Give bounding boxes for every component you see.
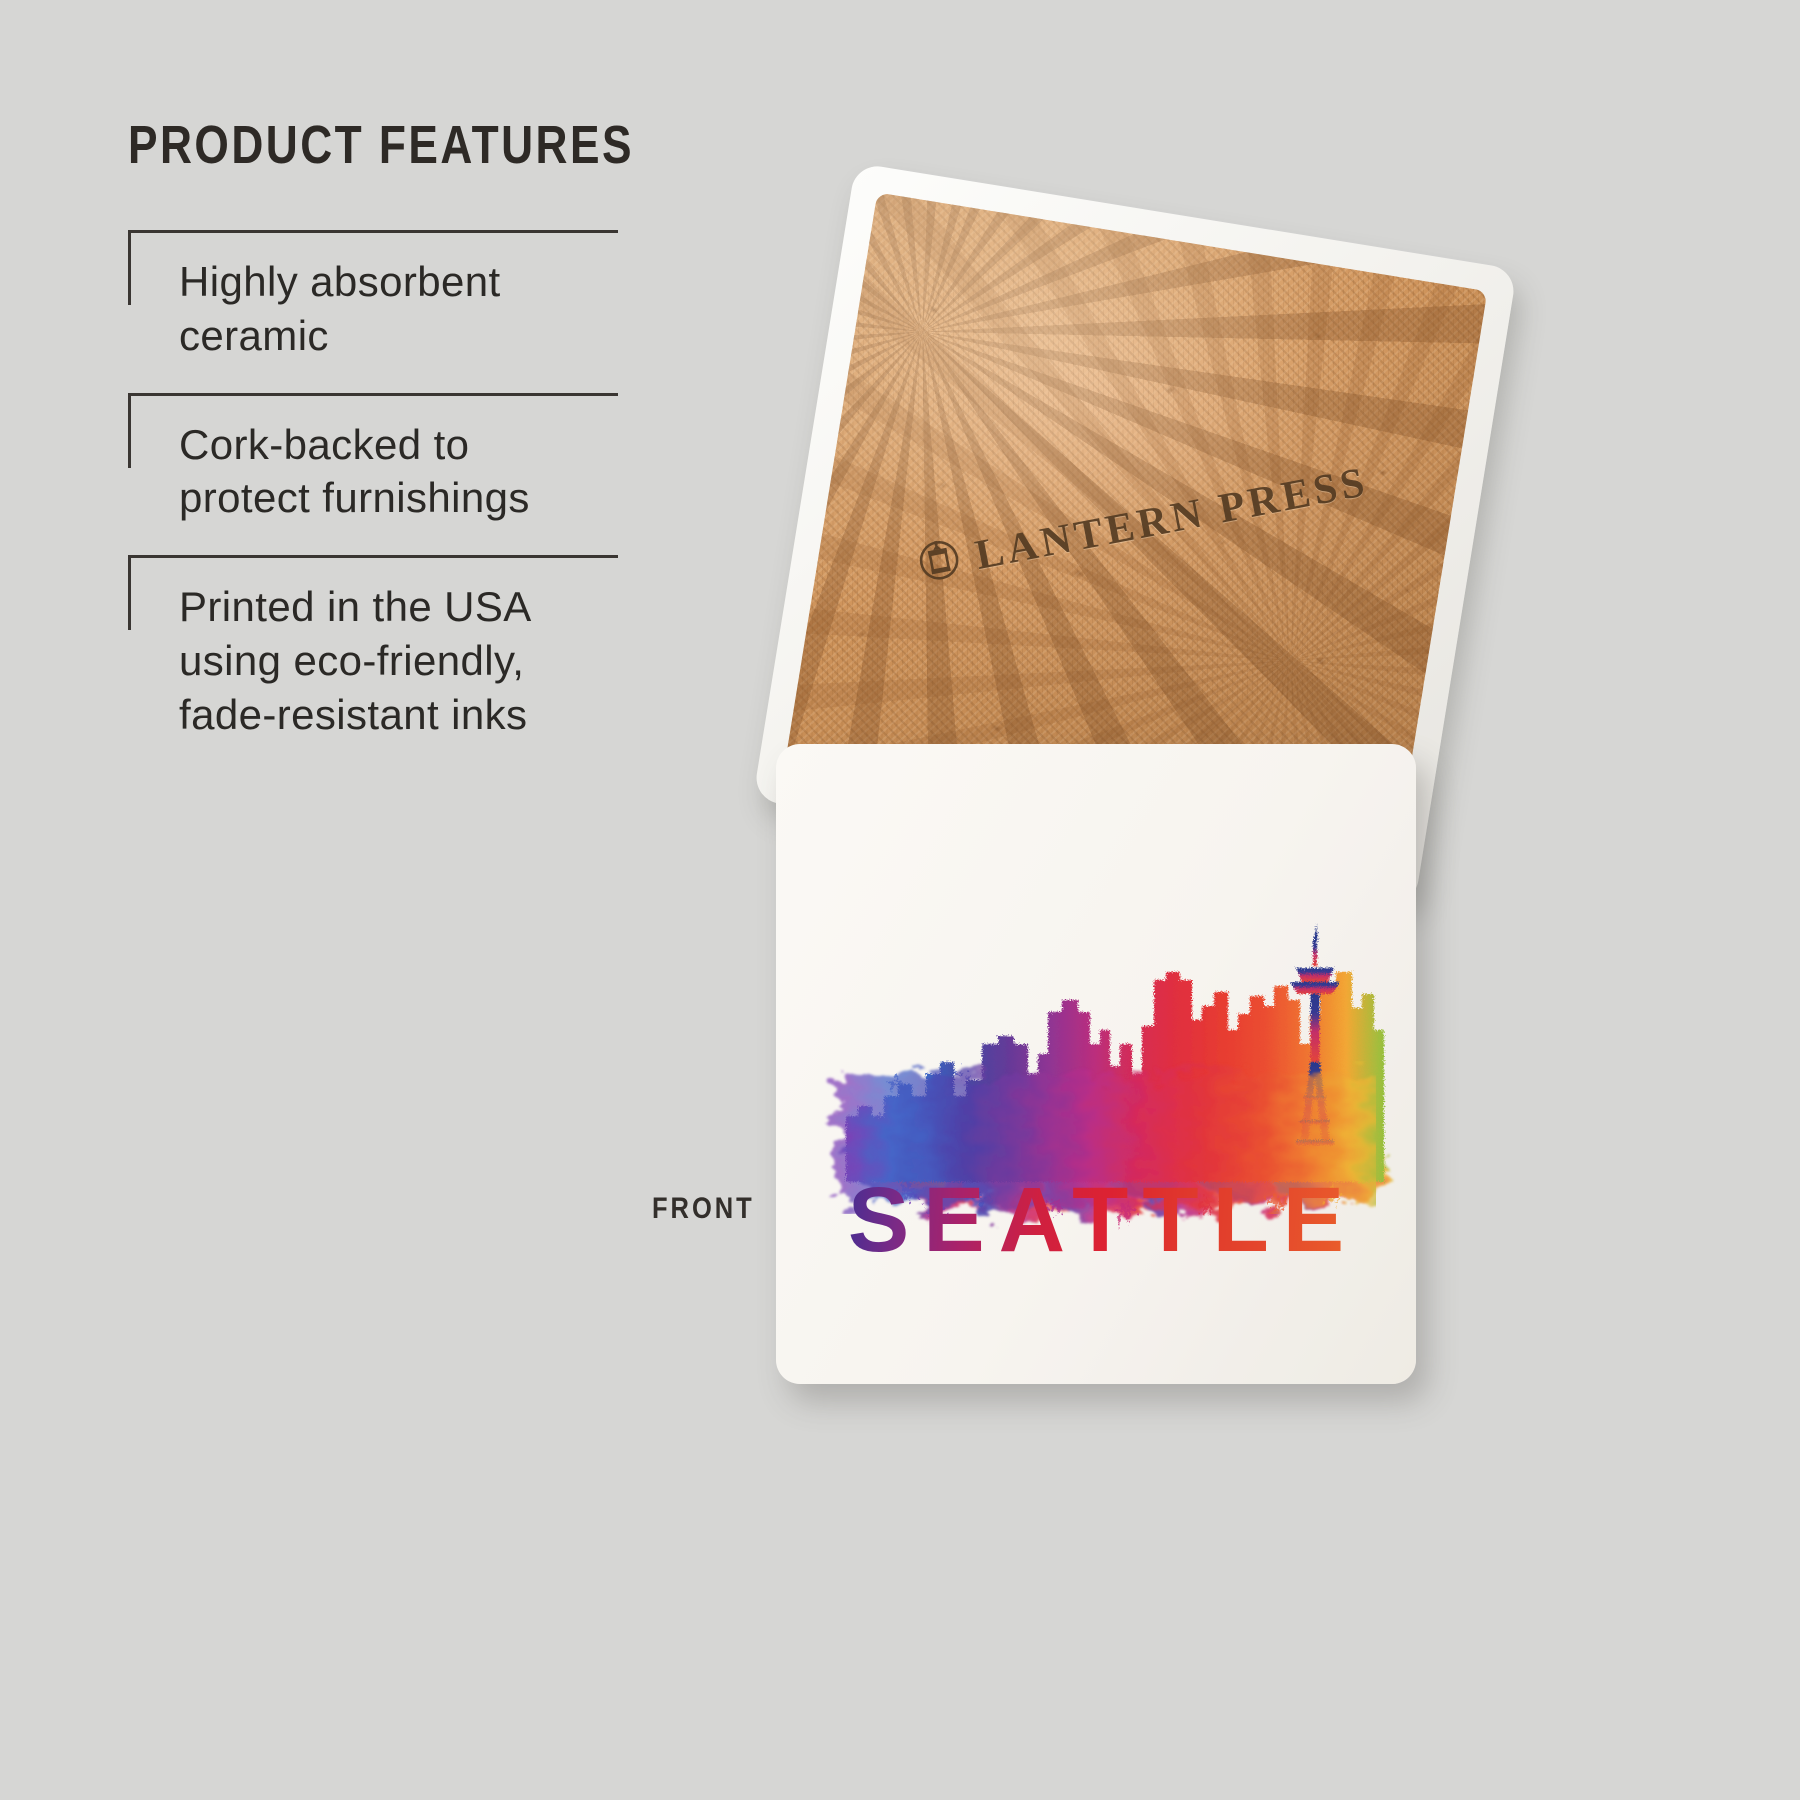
coaster-front: SEATTLE bbox=[776, 744, 1416, 1384]
feature-item-absorbent: Highly absorbent ceramic bbox=[128, 230, 618, 393]
feature-text: Printed in the USA using eco-friendly, f… bbox=[179, 580, 618, 741]
feature-item-printed-usa: Printed in the USA using eco-friendly, f… bbox=[128, 555, 618, 771]
skyline-artwork bbox=[776, 744, 1416, 1384]
page-title: PRODUCT FEATURES bbox=[128, 118, 587, 172]
brand-stamp-text: LANTERN PRESS bbox=[971, 458, 1372, 580]
brand-stamp: LANTERN PRESS bbox=[912, 456, 1372, 592]
lantern-icon bbox=[912, 533, 967, 592]
feature-text: Cork-backed to protect furnishings bbox=[179, 418, 618, 526]
product-features-panel: PRODUCT FEATURES Highly absorbent cerami… bbox=[128, 118, 688, 771]
feature-item-cork-backed: Cork-backed to protect furnishings bbox=[128, 393, 618, 556]
city-name: SEATTLE bbox=[776, 1174, 1416, 1266]
feature-text: Highly absorbent ceramic bbox=[179, 255, 618, 363]
